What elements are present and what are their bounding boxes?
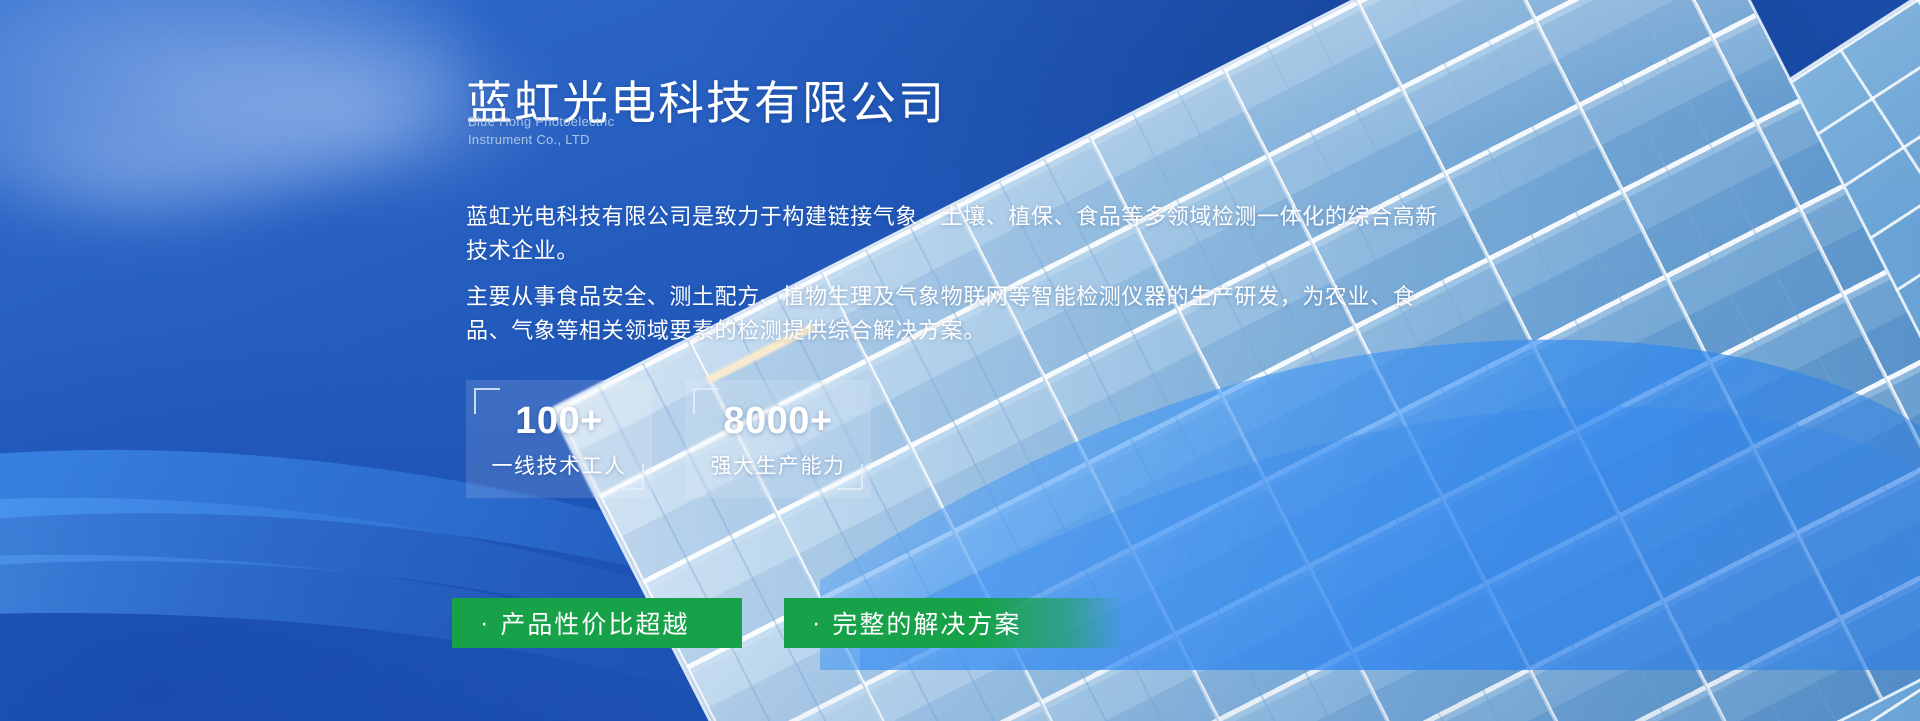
intro-paragraph-2: 主要从事食品安全、测土配方、植物生理及气象物联网等智能检测仪器的生产研发，为农业… xyxy=(466,280,1456,349)
corner-bracket-top-left-icon xyxy=(693,388,719,414)
bullet-dot-icon: · xyxy=(812,611,822,636)
stat-card-workers: 100+ 一线技术工人 xyxy=(466,380,652,498)
feature-tag-label: 产品性价比超越 xyxy=(500,605,689,641)
feature-tag-solution: · 完整的解决方案 xyxy=(784,598,1124,648)
company-hero-banner: 蓝虹光电科技有限公司 Blue Hong Photoelectric Instr… xyxy=(0,0,1920,721)
subtitle-line-2: Instrument Co., LTD xyxy=(468,131,614,149)
hero-content: 蓝虹光电科技有限公司 Blue Hong Photoelectric Instr… xyxy=(0,0,1920,721)
stat-number: 8000+ xyxy=(723,402,832,440)
stat-number: 100+ xyxy=(515,402,603,440)
stat-card-group: 100+ 一线技术工人 8000+ 强大生产能力 xyxy=(466,380,871,498)
corner-bracket-top-left-icon xyxy=(474,388,500,414)
intro-paragraph-1: 蓝虹光电科技有限公司是致力于构建链接气象、土壤、植保、食品等多领域检测一体化的综… xyxy=(466,200,1456,269)
feature-tag-label: 完整的解决方案 xyxy=(832,605,1021,641)
feature-tag-value: · 产品性价比超越 xyxy=(452,598,742,648)
stat-label: 强大生产能力 xyxy=(711,456,846,477)
stat-label: 一线技术工人 xyxy=(492,456,627,477)
company-subtitle-english: Blue Hong Photoelectric Instrument Co., … xyxy=(468,113,614,150)
subtitle-line-1: Blue Hong Photoelectric xyxy=(468,113,614,131)
bullet-dot-icon: · xyxy=(480,611,490,636)
stat-card-capacity: 8000+ 强大生产能力 xyxy=(685,380,871,498)
feature-tag-group: · 产品性价比超越 · 完整的解决方案 xyxy=(452,598,1124,648)
